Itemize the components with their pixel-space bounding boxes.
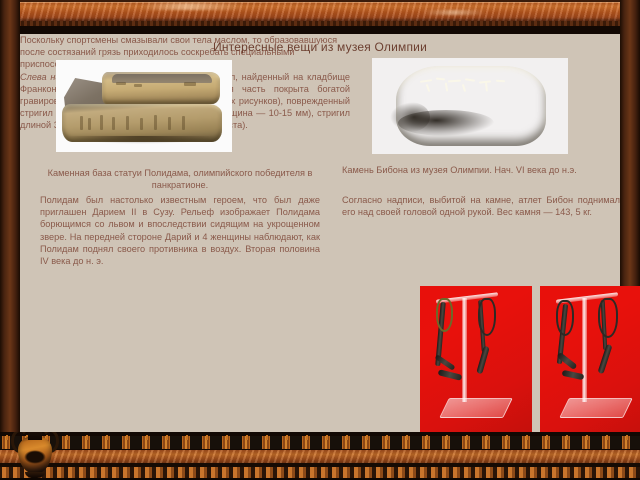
left-caption: Каменная база статуи Полидама, олимпийск…	[44, 168, 316, 191]
content-panel: Интересные вещи из музея Олимпии	[20, 34, 620, 432]
stone-upper-face	[112, 74, 212, 83]
photo-strigil-left	[420, 286, 532, 440]
photo-stone-base-polydamas	[56, 60, 232, 152]
copper-band-icon	[0, 2, 640, 21]
slide: Интересные вещи из музея Олимпии	[0, 0, 640, 480]
page-title: Интересные вещи из музея Олимпии	[20, 40, 620, 54]
amphora-icon	[8, 432, 62, 478]
amphora-figure-motif	[24, 450, 46, 464]
bibon-shadow-area-2	[390, 102, 430, 132]
right-body-text: Согласно надписи, выбитой на камне, атле…	[342, 194, 620, 218]
band-black-strip	[0, 26, 640, 34]
frame-left-edge	[0, 0, 20, 480]
palmette-tips	[0, 435, 640, 440]
copper-sheen	[141, 3, 243, 10]
stone-shadow	[66, 136, 216, 144]
top-border-band	[0, 0, 640, 34]
bottom-border-band	[0, 432, 640, 480]
photo-bibon-stone	[372, 58, 568, 154]
right-caption: Камень Бибона из музея Олимпии. Нач. VI …	[342, 164, 620, 176]
left-body-text: Полидам был настолько известным героем, …	[40, 194, 320, 267]
amphora-foot	[25, 472, 45, 478]
photo-strigil-right	[540, 286, 640, 440]
ovolo-bead-frieze-icon	[0, 467, 640, 478]
bottom-copper-band	[0, 450, 640, 463]
amphora-neck	[28, 432, 42, 440]
copper-sheen-2	[422, 10, 486, 15]
